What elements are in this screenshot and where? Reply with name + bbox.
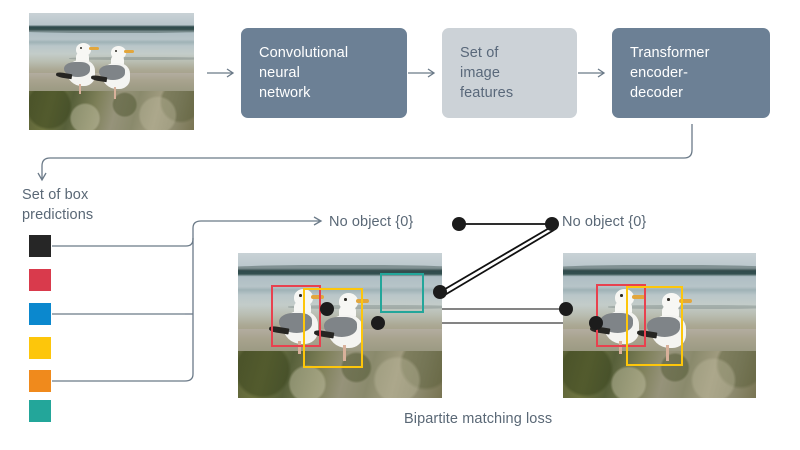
image-features-box: Set of image features bbox=[442, 28, 577, 118]
photo-water-streak bbox=[29, 28, 194, 33]
box-predictions-heading: Set of box predictions bbox=[22, 186, 162, 225]
arrow-features-to-transformer bbox=[578, 69, 604, 77]
edge-teal-to-noobject-a bbox=[440, 227, 551, 292]
arrow-image-to-cnn bbox=[207, 69, 233, 77]
node-pred-red[interactable] bbox=[320, 302, 334, 316]
node-gt-yellow[interactable] bbox=[589, 316, 603, 330]
left-no-object-label: No object {0} bbox=[329, 214, 413, 230]
gull-left bbox=[63, 43, 103, 99]
node-pred-teal[interactable] bbox=[433, 285, 447, 299]
prediction-image bbox=[238, 253, 442, 398]
right-no-object-label: No object {0} bbox=[562, 214, 646, 230]
prediction-swatch-yellow[interactable] bbox=[29, 337, 51, 359]
prediction-swatch-teal[interactable] bbox=[29, 400, 51, 422]
prediction-swatch-red[interactable] bbox=[29, 269, 51, 291]
pred-box-teal bbox=[380, 273, 424, 313]
node-gt-red[interactable] bbox=[559, 302, 573, 316]
photo-water-streak bbox=[238, 265, 442, 272]
input-image bbox=[29, 13, 194, 130]
transformer-box: Transformer encoder- decoder bbox=[612, 28, 770, 118]
node-left-no-object[interactable] bbox=[452, 217, 466, 231]
photo-water-streak bbox=[563, 265, 756, 272]
node-right-no-object[interactable] bbox=[545, 217, 559, 231]
arrow-cnn-to-features bbox=[408, 69, 434, 77]
cnn-box: Convolutional neural network bbox=[241, 28, 407, 118]
prediction-swatch-black[interactable] bbox=[29, 235, 51, 257]
edge-teal-to-noobject-b bbox=[443, 230, 554, 296]
pred-box-yellow bbox=[303, 288, 363, 368]
detr-pipeline-diagram: Convolutional neural network Set of imag… bbox=[0, 0, 800, 450]
bipartite-matching-loss-caption: Bipartite matching loss bbox=[404, 411, 552, 427]
node-pred-yellow[interactable] bbox=[371, 316, 385, 330]
wraparound-connector bbox=[38, 124, 692, 180]
matching-edges bbox=[440, 224, 554, 296]
prediction-swatch-blue[interactable] bbox=[29, 303, 51, 325]
gt-box-yellow bbox=[626, 286, 683, 366]
prediction-swatch-orange[interactable] bbox=[29, 370, 51, 392]
gull-right bbox=[98, 46, 138, 102]
